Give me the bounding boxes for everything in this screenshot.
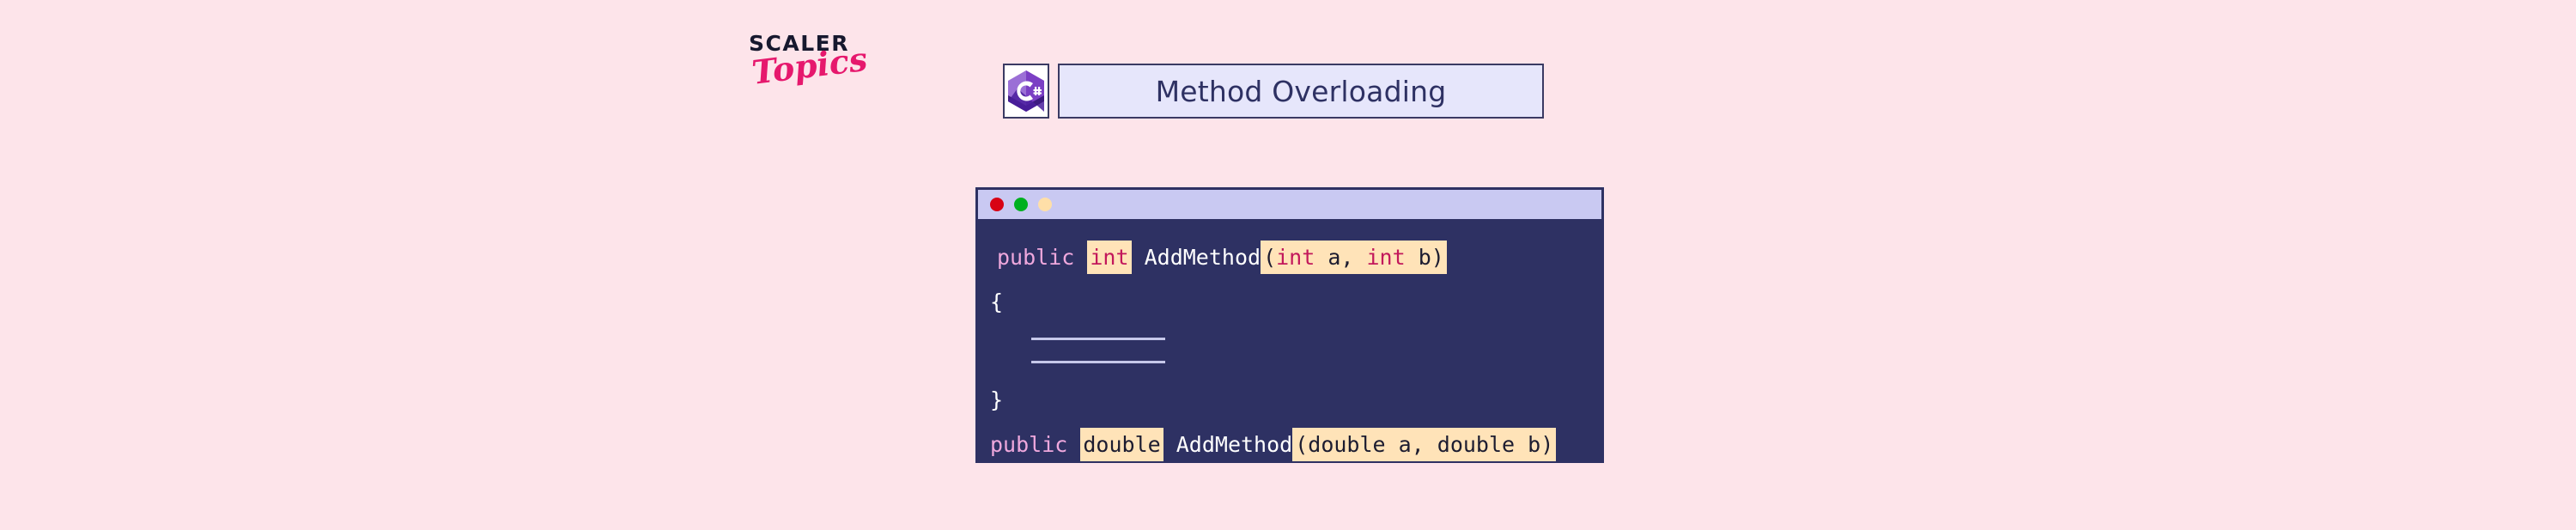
keyword-public-1: public [997, 247, 1074, 268]
method-name-double: AddMethod [1176, 434, 1292, 455]
return-type-int: int [1087, 241, 1131, 274]
language-icon-box [1003, 64, 1049, 119]
minimize-button[interactable] [1014, 198, 1028, 211]
param-name-b-int: b) [1406, 245, 1444, 270]
code-window-titlebar [978, 190, 1601, 219]
scaler-topics-logo: SCALER Topics [749, 33, 869, 110]
param-type-int-2: int [1367, 245, 1406, 270]
method-name-int: AddMethod [1145, 247, 1261, 268]
code-line-elided-body [978, 324, 1601, 377]
close-button[interactable] [990, 198, 1004, 211]
maximize-button[interactable] [1038, 198, 1052, 211]
code-window: public int AddMethod(int a, int b) { } p… [975, 187, 1604, 463]
code-editor-area[interactable]: public int AddMethod(int a, int b) { } p… [978, 219, 1601, 460]
code-line-signature-int: public int AddMethod(int a, int b) [978, 235, 1601, 279]
page-title-box: Method Overloading [1058, 64, 1544, 119]
param-type-int-1: int [1276, 245, 1315, 270]
params-double: (double a, double b) [1292, 428, 1556, 461]
return-type-double: double [1080, 428, 1163, 461]
header-row: Method Overloading [1003, 64, 1544, 119]
paren-open-int: ( [1263, 245, 1276, 270]
csharp-logo-icon [1007, 70, 1045, 113]
page-title: Method Overloading [1156, 75, 1447, 108]
param-name-a-int: a, [1315, 245, 1366, 270]
elision-rule-2 [1031, 361, 1165, 363]
keyword-public-2: public [990, 434, 1067, 455]
brace-close: } [990, 389, 1003, 411]
brace-open: { [990, 291, 1003, 313]
elision-rule-1 [1031, 338, 1165, 340]
code-line-close-brace: } [978, 377, 1601, 422]
code-line-signature-double: public double AddMethod(double a, double… [978, 422, 1601, 466]
code-line-open-brace: { [978, 279, 1601, 324]
